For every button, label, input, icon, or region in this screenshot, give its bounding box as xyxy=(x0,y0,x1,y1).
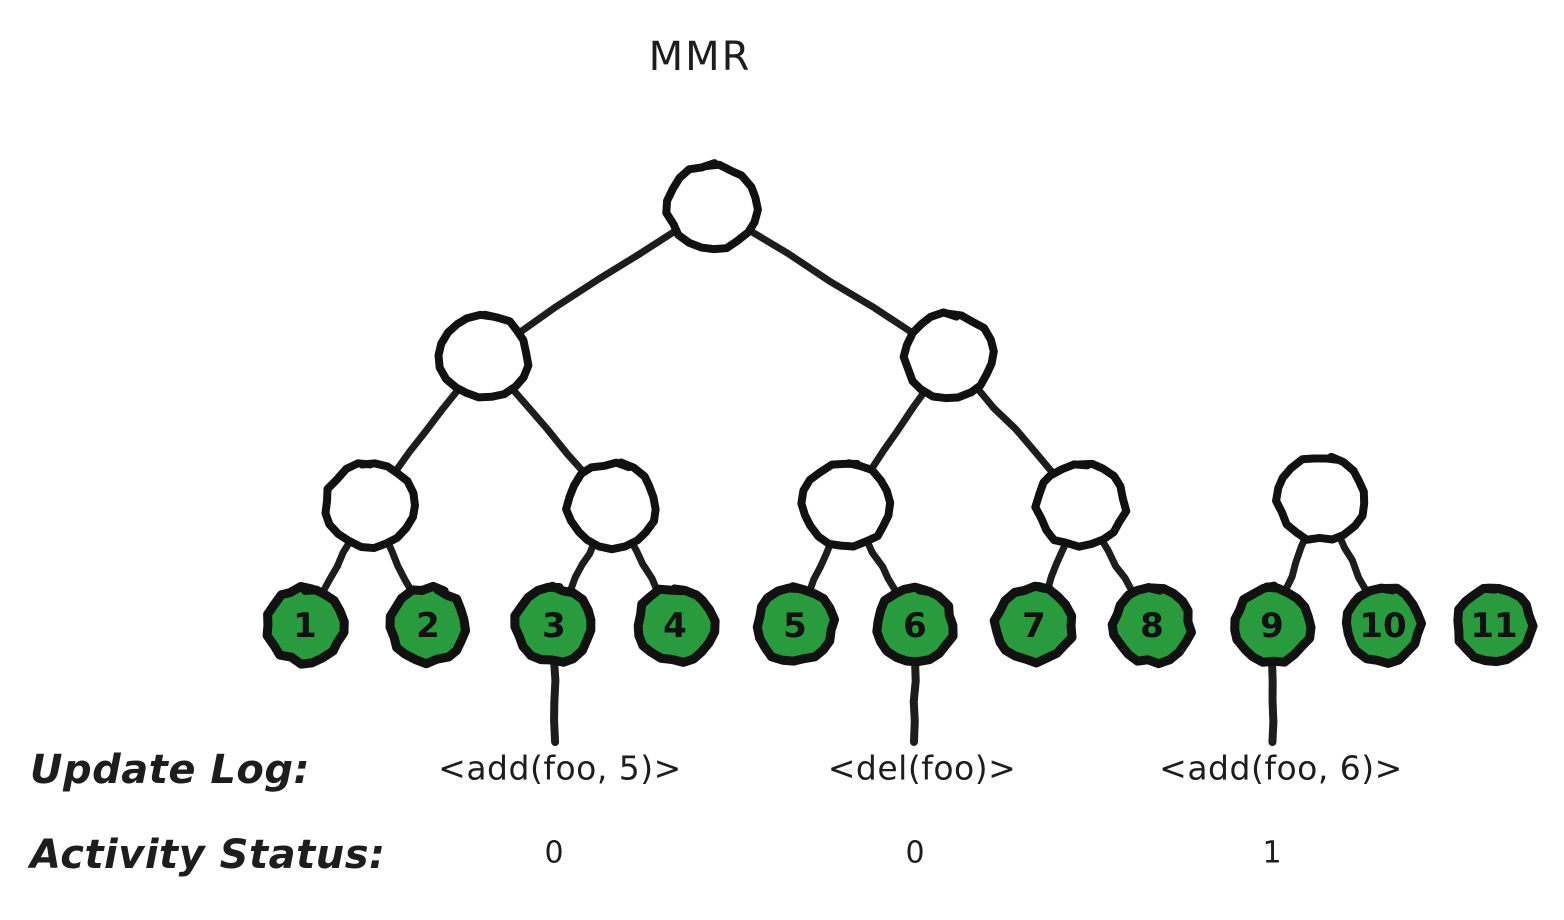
internal-node-level2-left[interactable] xyxy=(439,314,529,398)
leaf-label: 10 xyxy=(1359,606,1406,646)
update-log-entry: <add(foo, 6)> xyxy=(1159,749,1403,788)
leaf-node-4[interactable]: 4 xyxy=(637,588,715,662)
activity-status-value: 0 xyxy=(544,836,563,871)
leaf-node-10[interactable]: 10 xyxy=(1345,588,1421,663)
leaf-node-7[interactable]: 7 xyxy=(994,586,1072,663)
internal-node-level3-e[interactable] xyxy=(1276,456,1365,540)
internal-node-level3-c[interactable] xyxy=(801,463,891,547)
log-pointer-line-leaf-6 xyxy=(914,660,916,742)
tree-edge xyxy=(570,539,595,591)
leaf-label: 11 xyxy=(1470,606,1517,646)
internal-node-level3-d[interactable] xyxy=(1035,463,1126,547)
tree-edge xyxy=(1338,532,1367,592)
tree-edge xyxy=(509,385,587,476)
leaf-label: 4 xyxy=(663,606,687,646)
leaf-label: 8 xyxy=(1140,606,1164,646)
leaf-label: 1 xyxy=(293,606,317,646)
leaf-node-3[interactable]: 3 xyxy=(515,586,592,662)
leaf-node-6[interactable]: 6 xyxy=(877,587,953,662)
tree-edge xyxy=(394,386,461,474)
internal-node-root[interactable] xyxy=(666,163,758,249)
tree-edge xyxy=(323,538,352,592)
internal-node-level2-right[interactable] xyxy=(904,312,994,398)
leaf-label: 2 xyxy=(416,606,440,646)
tree-edge xyxy=(744,227,916,335)
tree-edge xyxy=(866,538,897,593)
tree-edge xyxy=(1100,538,1133,593)
page-title: MMR xyxy=(649,34,752,80)
leaf-label: 3 xyxy=(542,606,566,646)
leaf-nodes: 1234567891011 xyxy=(267,586,1533,664)
leaf-label: 7 xyxy=(1022,606,1046,646)
tree-edge xyxy=(869,387,928,472)
leaf-label: 9 xyxy=(1260,606,1284,646)
leaf-label: 5 xyxy=(783,606,807,646)
log-pointer-lines xyxy=(554,660,1273,742)
internal-node-level3-b[interactable] xyxy=(566,462,656,549)
internal-node-level3-a[interactable] xyxy=(325,463,414,548)
tree-edge xyxy=(387,539,412,591)
activity-status-label: Activity Status: xyxy=(30,832,386,878)
leaf-label: 6 xyxy=(903,606,927,646)
tree-edge xyxy=(1047,540,1067,590)
log-pointer-line-leaf-3 xyxy=(554,660,555,742)
update-log-entry: <del(foo)> xyxy=(828,749,1016,788)
diagram-canvas: 1234567891011 MMR Update Log: Activity S… xyxy=(0,0,1564,920)
activity-status-value: 1 xyxy=(1262,836,1281,871)
tree-edge xyxy=(974,384,1055,475)
activity-status-value: 0 xyxy=(905,836,924,871)
leaf-node-5[interactable]: 5 xyxy=(757,587,835,662)
leaf-node-9[interactable]: 9 xyxy=(1234,586,1311,662)
leaf-node-2[interactable]: 2 xyxy=(390,586,466,663)
internal-nodes xyxy=(325,163,1365,549)
leaf-node-1[interactable]: 1 xyxy=(267,586,344,664)
tree-edge xyxy=(630,539,658,593)
leaf-node-8[interactable]: 8 xyxy=(1112,588,1191,664)
update-log-entry: <add(foo, 5)> xyxy=(438,749,682,788)
log-pointer-line-leaf-9 xyxy=(1272,660,1273,742)
leaf-node-11[interactable]: 11 xyxy=(1456,588,1533,662)
update-log-label: Update Log: xyxy=(30,747,310,793)
tree-edge xyxy=(517,228,681,335)
